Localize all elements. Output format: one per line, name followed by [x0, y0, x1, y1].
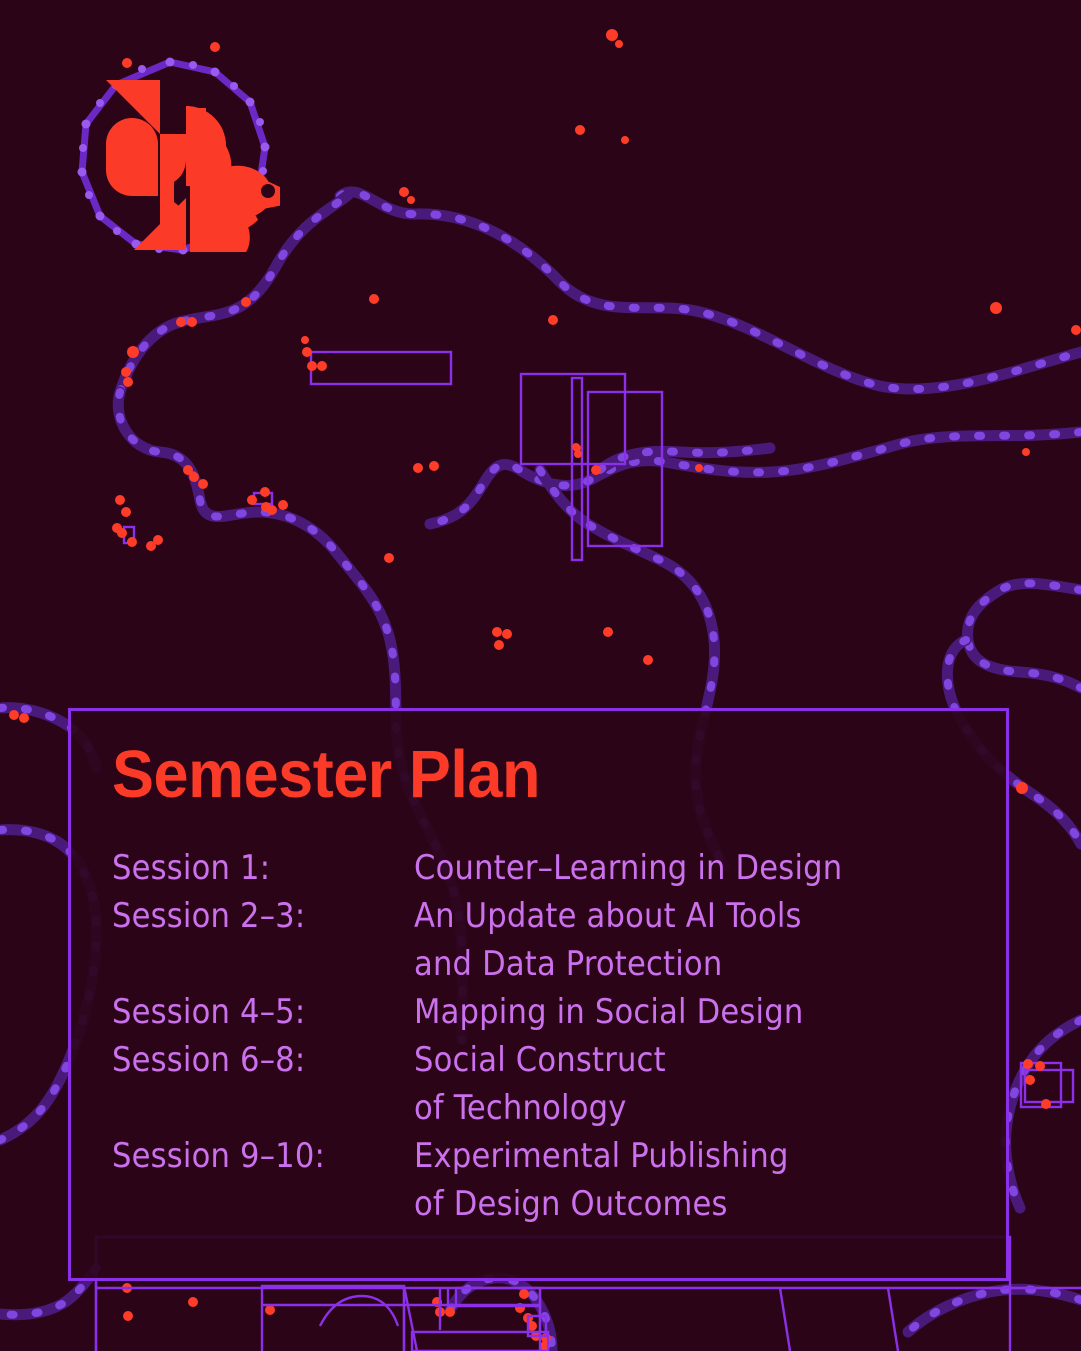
map-marker-dot	[123, 377, 133, 387]
session-label: Session 4–5:	[112, 988, 414, 1036]
session-label: Session 2–3:	[112, 892, 414, 940]
map-marker-dot	[317, 361, 327, 371]
map-marker-dot	[183, 465, 193, 475]
map-marker-dot	[302, 347, 312, 357]
map-marker-dot	[492, 627, 502, 637]
logo-bird-eye	[261, 184, 275, 198]
poster-root: .road-base { fill:none; stroke:#4a1a7a; …	[0, 0, 1081, 1351]
map-marker-dot	[494, 640, 504, 650]
map-marker-dot	[267, 505, 277, 515]
map-parcel-rect	[572, 378, 582, 560]
semester-plan-panel: Semester Plan Session 1:Counter–Learning…	[68, 708, 1009, 1281]
map-marker-dot	[445, 1307, 455, 1317]
session-topic: An Update about AI Toolsand Data Protect…	[414, 892, 972, 988]
map-marker-dot	[188, 1297, 198, 1307]
map-marker-dot	[121, 507, 131, 517]
map-marker-dot	[176, 317, 186, 327]
session-topic-line: of Design Outcomes	[414, 1180, 972, 1228]
session-topic: Counter–Learning in Design	[414, 844, 972, 892]
map-marker-dot	[123, 1311, 133, 1321]
session-row: Session 2–3:An Update about AI Toolsand …	[112, 892, 972, 988]
session-topic-line: Counter–Learning in Design	[414, 844, 972, 892]
session-topic-line: An Update about AI Tools	[414, 892, 972, 940]
map-marker-dot	[519, 1289, 529, 1299]
map-marker-dot	[19, 713, 29, 723]
map-parcel-rect	[1025, 1070, 1073, 1102]
session-topic-line: Experimental Publishing	[414, 1132, 972, 1180]
map-marker-dot	[575, 125, 585, 135]
map-marker-dot	[502, 629, 512, 639]
map-marker-dot	[1025, 1075, 1035, 1085]
map-marker-dot	[121, 367, 131, 377]
map-marker-dot	[591, 465, 601, 475]
map-marker-dot	[369, 294, 379, 304]
map-marker-dot	[429, 461, 439, 471]
map-marker-dot	[117, 528, 127, 538]
map-marker-dot	[1035, 1061, 1045, 1071]
map-marker-dot	[1041, 1099, 1051, 1109]
map-marker-dot	[1022, 448, 1030, 456]
map-marker-dot	[399, 187, 409, 197]
map-parcel-rect	[311, 352, 451, 384]
map-marker-dot	[187, 317, 197, 327]
map-marker-dot	[260, 487, 270, 497]
map-marker-dot	[1016, 782, 1028, 794]
session-label: Session 9–10:	[112, 1132, 414, 1180]
session-row: Session 9–10:Experimental Publishingof D…	[112, 1132, 972, 1228]
page-title: Semester Plan	[112, 741, 540, 808]
map-marker-dot	[153, 535, 163, 545]
session-row: Session 4–5:Mapping in Social Design	[112, 988, 972, 1036]
map-marker-dot	[1071, 325, 1081, 335]
map-marker-dot	[265, 1305, 275, 1315]
session-list: Session 1:Counter–Learning in DesignSess…	[112, 844, 972, 1228]
map-marker-dot	[1023, 1059, 1033, 1069]
map-marker-dot	[574, 450, 582, 458]
map-marker-dot	[407, 196, 415, 204]
map-marker-dot	[127, 537, 137, 547]
map-marker-dot	[643, 655, 653, 665]
session-topic-line: Social Construct	[414, 1036, 972, 1084]
map-marker-dot	[115, 495, 125, 505]
map-marker-dot	[990, 302, 1002, 314]
session-topic: Social Constructof Technology	[414, 1036, 972, 1132]
session-row: Session 1:Counter–Learning in Design	[112, 844, 972, 892]
map-marker-dot	[247, 495, 257, 505]
map-marker-dot	[384, 553, 394, 563]
map-marker-dot	[301, 336, 309, 344]
map-marker-dot	[198, 479, 208, 489]
map-road-beads	[1006, 1020, 1081, 1208]
session-topic-line: Mapping in Social Design	[414, 988, 972, 1036]
map-marker-dot	[621, 136, 629, 144]
session-topic: Experimental Publishingof Design Outcome…	[414, 1132, 972, 1228]
map-marker-dot	[307, 361, 317, 371]
session-label: Session 6–8:	[112, 1036, 414, 1084]
session-label: Session 1:	[112, 844, 414, 892]
session-topic-line: and Data Protection	[414, 940, 972, 988]
map-marker-dot	[241, 297, 251, 307]
abstract-bird-dove-logo	[60, 50, 280, 270]
map-marker-dot	[278, 500, 288, 510]
map-marker-dot	[413, 463, 423, 473]
map-marker-dot	[695, 464, 703, 472]
map-marker-dot	[127, 346, 139, 358]
map-marker-dot	[603, 627, 613, 637]
map-marker-dot	[615, 40, 623, 48]
map-marker-dot	[9, 710, 19, 720]
map-marker-dot	[548, 315, 558, 325]
session-topic-line: of Technology	[414, 1084, 972, 1132]
map-marker-dot	[606, 29, 618, 41]
session-topic: Mapping in Social Design	[414, 988, 972, 1036]
session-row: Session 6–8:Social Constructof Technolog…	[112, 1036, 972, 1132]
